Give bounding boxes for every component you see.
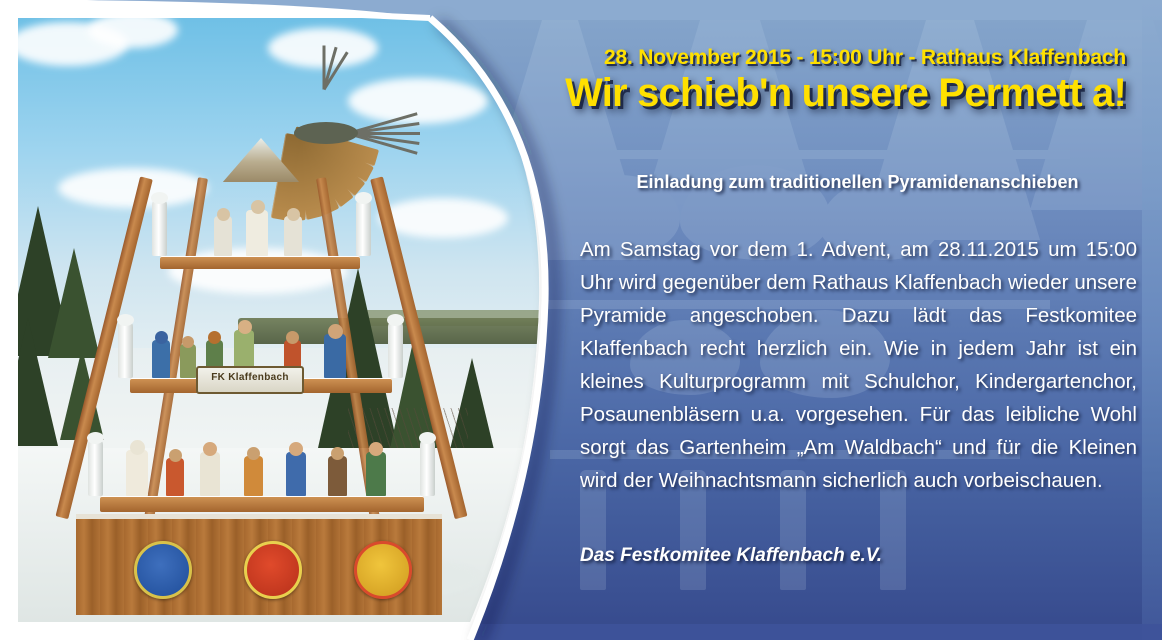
candle bbox=[152, 198, 167, 256]
figure bbox=[286, 452, 306, 496]
mining-emblem-red bbox=[244, 541, 302, 599]
figure bbox=[328, 456, 347, 496]
figure-head bbox=[369, 442, 383, 456]
figure-head bbox=[287, 208, 300, 221]
christmas-pyramid: FK Klaffenbach bbox=[48, 48, 468, 622]
figure-head bbox=[208, 331, 221, 344]
klaffenbach-sign: FK Klaffenbach bbox=[196, 366, 304, 394]
header-block: 28. November 2015 - 15:00 Uhr - Rathaus … bbox=[470, 46, 1142, 114]
candle bbox=[420, 438, 435, 496]
photo-frame: FK Klaffenbach bbox=[0, 0, 576, 640]
figure bbox=[244, 456, 263, 496]
figure-head bbox=[247, 447, 260, 460]
figure-head bbox=[238, 320, 252, 334]
figure-head bbox=[251, 200, 265, 214]
mining-emblem-yellow bbox=[354, 541, 412, 599]
figure-head bbox=[328, 324, 343, 339]
signature: Das Festkomitee Klaffenbach e.V. bbox=[580, 545, 1137, 567]
panel-frame-right bbox=[1142, 0, 1162, 640]
figure-head bbox=[289, 442, 303, 456]
figure bbox=[180, 344, 196, 378]
candle bbox=[118, 320, 133, 378]
figure bbox=[152, 340, 170, 378]
figure-angel bbox=[284, 216, 302, 256]
figure bbox=[200, 452, 220, 496]
figure bbox=[366, 452, 386, 496]
figure-angel bbox=[214, 216, 232, 256]
figure-head bbox=[286, 331, 299, 344]
figure bbox=[166, 458, 184, 496]
event-line: 28. November 2015 - 15:00 Uhr - Rathaus … bbox=[470, 46, 1142, 70]
figure-angel bbox=[246, 210, 268, 256]
figure-head bbox=[130, 440, 145, 455]
figure-head bbox=[182, 336, 194, 348]
candle bbox=[356, 198, 371, 256]
figure-head bbox=[203, 442, 217, 456]
figure bbox=[126, 450, 148, 496]
pyramid-platform bbox=[100, 496, 424, 512]
figure-head bbox=[217, 208, 230, 221]
figure bbox=[324, 334, 346, 378]
figure-head bbox=[169, 449, 182, 462]
pyramid-platform bbox=[160, 256, 360, 269]
pyramid-photo: FK Klaffenbach bbox=[18, 18, 558, 622]
figure-head bbox=[331, 447, 344, 460]
poster-root: 28. November 2015 - 15:00 Uhr - Rathaus … bbox=[0, 0, 1162, 640]
candle bbox=[388, 320, 403, 378]
pyramid-base bbox=[76, 514, 442, 615]
candle bbox=[88, 438, 103, 496]
figure-head bbox=[155, 331, 168, 344]
mining-emblem-blue bbox=[134, 541, 192, 599]
subtitle: Einladung zum traditionellen Pyramidenan… bbox=[580, 172, 1135, 193]
body-paragraph: Am Samstag vor dem 1. Advent, am 28.11.2… bbox=[580, 233, 1137, 497]
page-title: Wir schieb'n unsere Permett a! bbox=[470, 72, 1142, 114]
